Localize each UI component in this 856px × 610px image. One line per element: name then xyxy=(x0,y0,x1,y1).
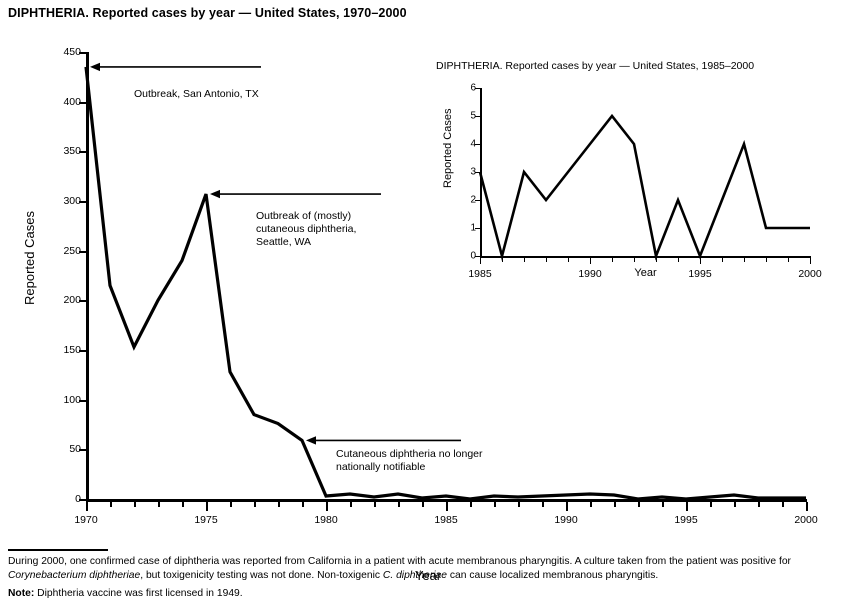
y-tick-label: 6 xyxy=(470,83,476,94)
x-tick-minor xyxy=(678,258,679,262)
main-y-axis-line xyxy=(86,52,89,502)
footnote-species-2: C. diphtheriae xyxy=(383,570,447,581)
x-tick-major xyxy=(86,502,88,511)
main-y-axis-label: Reported Cases xyxy=(22,211,37,305)
y-tick-label: 0 xyxy=(75,493,81,505)
footnote-text-1: During 2000, one confirmed case of dipht… xyxy=(8,556,791,567)
x-tick-major xyxy=(590,258,591,264)
x-tick-minor xyxy=(788,258,789,262)
y-tick-label: 450 xyxy=(63,46,81,58)
x-tick-minor xyxy=(758,502,760,507)
page-title: DIPHTHERIA. Reported cases by year — Uni… xyxy=(8,6,407,20)
y-tick-label: 0 xyxy=(470,251,476,262)
x-tick-major xyxy=(326,502,328,511)
inset-series-line xyxy=(480,88,811,258)
inset-plot-area: 0123456 1985199019952000 xyxy=(480,88,810,258)
y-tick-label: 50 xyxy=(69,443,81,455)
y-tick-label: 2 xyxy=(470,195,476,206)
x-tick-minor xyxy=(502,258,503,262)
x-tick-minor xyxy=(656,258,657,262)
x-tick-label: 1970 xyxy=(74,514,97,526)
x-tick-minor xyxy=(422,502,424,507)
footnote-species-1: Corynebacterium diphtheriae xyxy=(8,570,140,581)
x-tick-minor xyxy=(254,502,256,507)
x-tick-label: 1995 xyxy=(674,514,697,526)
x-tick-minor xyxy=(158,502,160,507)
inset-x-axis-line xyxy=(480,256,811,258)
y-tick-label: 5 xyxy=(470,111,476,122)
footnote-note-label: Note: xyxy=(8,588,34,599)
x-tick-minor xyxy=(350,502,352,507)
x-tick-minor xyxy=(134,502,136,507)
x-tick-major xyxy=(480,258,481,264)
x-tick-minor xyxy=(278,502,280,507)
y-tick-label: 200 xyxy=(63,294,81,306)
inset-x-axis-label: Year xyxy=(480,267,811,279)
x-tick-minor xyxy=(612,258,613,262)
x-tick-minor xyxy=(734,502,736,507)
x-tick-minor xyxy=(398,502,400,507)
x-tick-minor xyxy=(470,502,472,507)
x-tick-label: 2000 xyxy=(798,268,821,280)
x-tick-minor xyxy=(182,502,184,507)
x-tick-label: 1995 xyxy=(688,268,711,280)
footnote-note-text: Diphtheria vaccine was first licensed in… xyxy=(34,588,242,599)
x-tick-minor xyxy=(494,502,496,507)
x-tick-label: 1985 xyxy=(468,268,491,280)
y-tick-label: 350 xyxy=(63,145,81,157)
x-tick-major xyxy=(566,502,568,511)
x-tick-minor xyxy=(374,502,376,507)
annotation-no-longer-notifiable: Cutaneous diphtheria no longer nationall… xyxy=(336,448,483,474)
x-tick-minor xyxy=(230,502,232,507)
x-tick-minor xyxy=(744,258,745,262)
x-tick-major xyxy=(206,502,208,511)
x-tick-label: 1985 xyxy=(434,514,457,526)
y-tick-label: 150 xyxy=(63,344,81,356)
footnote-text-3: can cause localized membranous pharyngit… xyxy=(447,570,658,581)
inset-title: DIPHTHERIA. Reported cases by year — Uni… xyxy=(436,60,754,72)
x-tick-minor xyxy=(614,502,616,507)
x-tick-major xyxy=(700,258,701,264)
x-tick-label: 1990 xyxy=(578,268,601,280)
footnote-text-2: , but toxigenicity testing was not done.… xyxy=(140,570,383,581)
x-tick-minor xyxy=(722,258,723,262)
x-tick-minor xyxy=(518,502,520,507)
x-tick-label: 1980 xyxy=(314,514,337,526)
inset-chart: DIPHTHERIA. Reported cases by year — Uni… xyxy=(432,60,832,300)
y-tick-label: 4 xyxy=(470,139,476,150)
x-tick-minor xyxy=(546,258,547,262)
x-tick-minor xyxy=(524,258,525,262)
x-tick-label: 1990 xyxy=(554,514,577,526)
inset-y-axis-line xyxy=(480,88,482,258)
x-tick-major xyxy=(446,502,448,511)
x-tick-minor xyxy=(782,502,784,507)
x-tick-minor xyxy=(568,258,569,262)
x-tick-label: 1975 xyxy=(194,514,217,526)
x-tick-label: 2000 xyxy=(794,514,817,526)
y-tick-label: 250 xyxy=(63,245,81,257)
x-tick-major xyxy=(810,258,811,264)
x-tick-minor xyxy=(662,502,664,507)
x-tick-minor xyxy=(638,502,640,507)
y-tick-label: 400 xyxy=(63,96,81,108)
annotation-outbreak-seattle: Outbreak of (mostly) cutaneous diphtheri… xyxy=(256,210,356,249)
x-tick-minor xyxy=(766,258,767,262)
x-tick-minor xyxy=(110,502,112,507)
y-tick-label: 100 xyxy=(63,394,81,406)
x-tick-major xyxy=(806,502,808,511)
footnote-rule xyxy=(8,549,108,551)
x-tick-minor xyxy=(590,502,592,507)
inset-y-axis-label: Reported Cases xyxy=(442,109,454,189)
footnotes: During 2000, one confirmed case of dipht… xyxy=(8,549,848,601)
x-tick-minor xyxy=(542,502,544,507)
y-tick-label: 1 xyxy=(470,223,476,234)
y-tick-label: 3 xyxy=(470,167,476,178)
x-tick-minor xyxy=(302,502,304,507)
x-tick-minor xyxy=(710,502,712,507)
footnote-body: During 2000, one confirmed case of dipht… xyxy=(8,555,848,582)
footnote-note: Note: Diphtheria vaccine was first licen… xyxy=(8,587,848,601)
y-tick-label: 300 xyxy=(63,195,81,207)
x-tick-minor xyxy=(634,258,635,262)
x-tick-major xyxy=(686,502,688,511)
annotation-outbreak-san-antonio: Outbreak, San Antonio, TX xyxy=(134,88,259,101)
